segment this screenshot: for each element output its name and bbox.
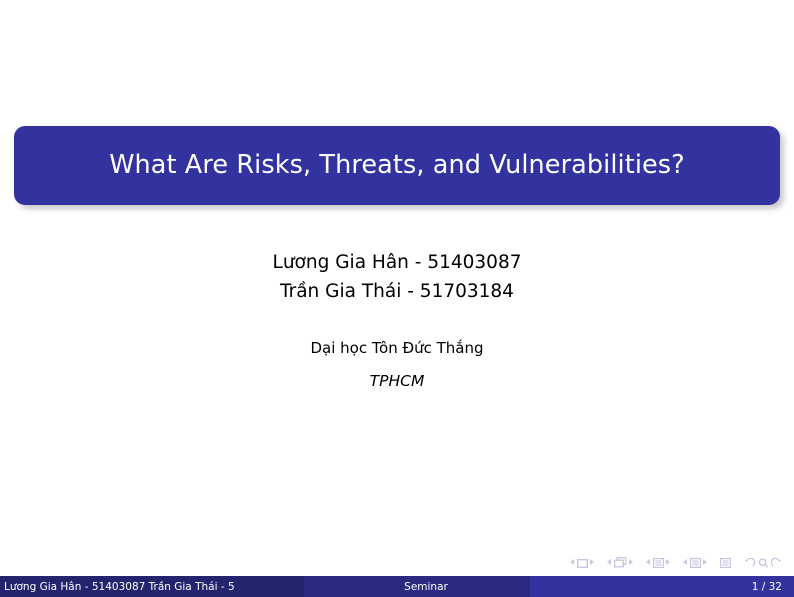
frame-next-icon[interactable] <box>629 559 633 565</box>
subsection-nav-group[interactable] <box>646 553 670 572</box>
slide-next-icon[interactable] <box>590 559 594 565</box>
search-nav-icon[interactable] <box>758 553 769 572</box>
section-prev-icon[interactable] <box>683 559 687 565</box>
institute-location: TPHCM <box>0 372 794 390</box>
slide-prev-icon[interactable] <box>570 559 574 565</box>
section-nav-icon[interactable] <box>690 553 701 572</box>
subsection-prev-icon[interactable] <box>646 559 650 565</box>
footer-presentation-title: Seminar <box>304 576 530 597</box>
frame-prev-icon[interactable] <box>607 559 611 565</box>
author-name-1: Lương Gia Hân - 51403087 <box>0 249 794 278</box>
back-nav-icon[interactable] <box>744 553 755 572</box>
beamer-navigation-bar[interactable] <box>0 551 794 573</box>
frame-nav-icon[interactable] <box>614 553 627 572</box>
presentation-nav-icon[interactable] <box>720 553 731 572</box>
footer-authors-text: Lương Gia Hân - 51403087 Trần Gia Thái -… <box>4 581 304 593</box>
presentation-slide: What Are Risks, Threats, and Vulnerabili… <box>0 0 794 597</box>
forward-nav-icon[interactable] <box>771 553 782 572</box>
frame-nav-group[interactable] <box>607 553 633 572</box>
slide-nav-icon[interactable] <box>577 553 588 572</box>
slide-footer: Lương Gia Hân - 51403087 Trần Gia Thái -… <box>0 576 794 597</box>
footer-page-indicator: 1 / 32 <box>530 576 794 597</box>
page-title: What Are Risks, Threats, and Vulnerabili… <box>109 151 685 179</box>
title-box: What Are Risks, Threats, and Vulnerabili… <box>14 126 780 205</box>
history-nav-group[interactable] <box>744 553 782 572</box>
slide-nav-group[interactable] <box>570 553 594 572</box>
footer-authors: Lương Gia Hân - 51403087 Trần Gia Thái -… <box>0 576 304 597</box>
author-list: Lương Gia Hân - 51403087 Trần Gia Thái -… <box>0 249 794 307</box>
section-nav-group[interactable] <box>683 553 707 572</box>
presentation-nav-group[interactable] <box>720 553 731 572</box>
section-next-icon[interactable] <box>703 559 707 565</box>
author-name-2: Trần Gia Thái - 51703184 <box>0 278 794 307</box>
institute-name: Dại học Tôn Đức Thắng <box>0 339 794 357</box>
subsection-nav-icon[interactable] <box>653 553 664 572</box>
subsection-next-icon[interactable] <box>666 559 670 565</box>
